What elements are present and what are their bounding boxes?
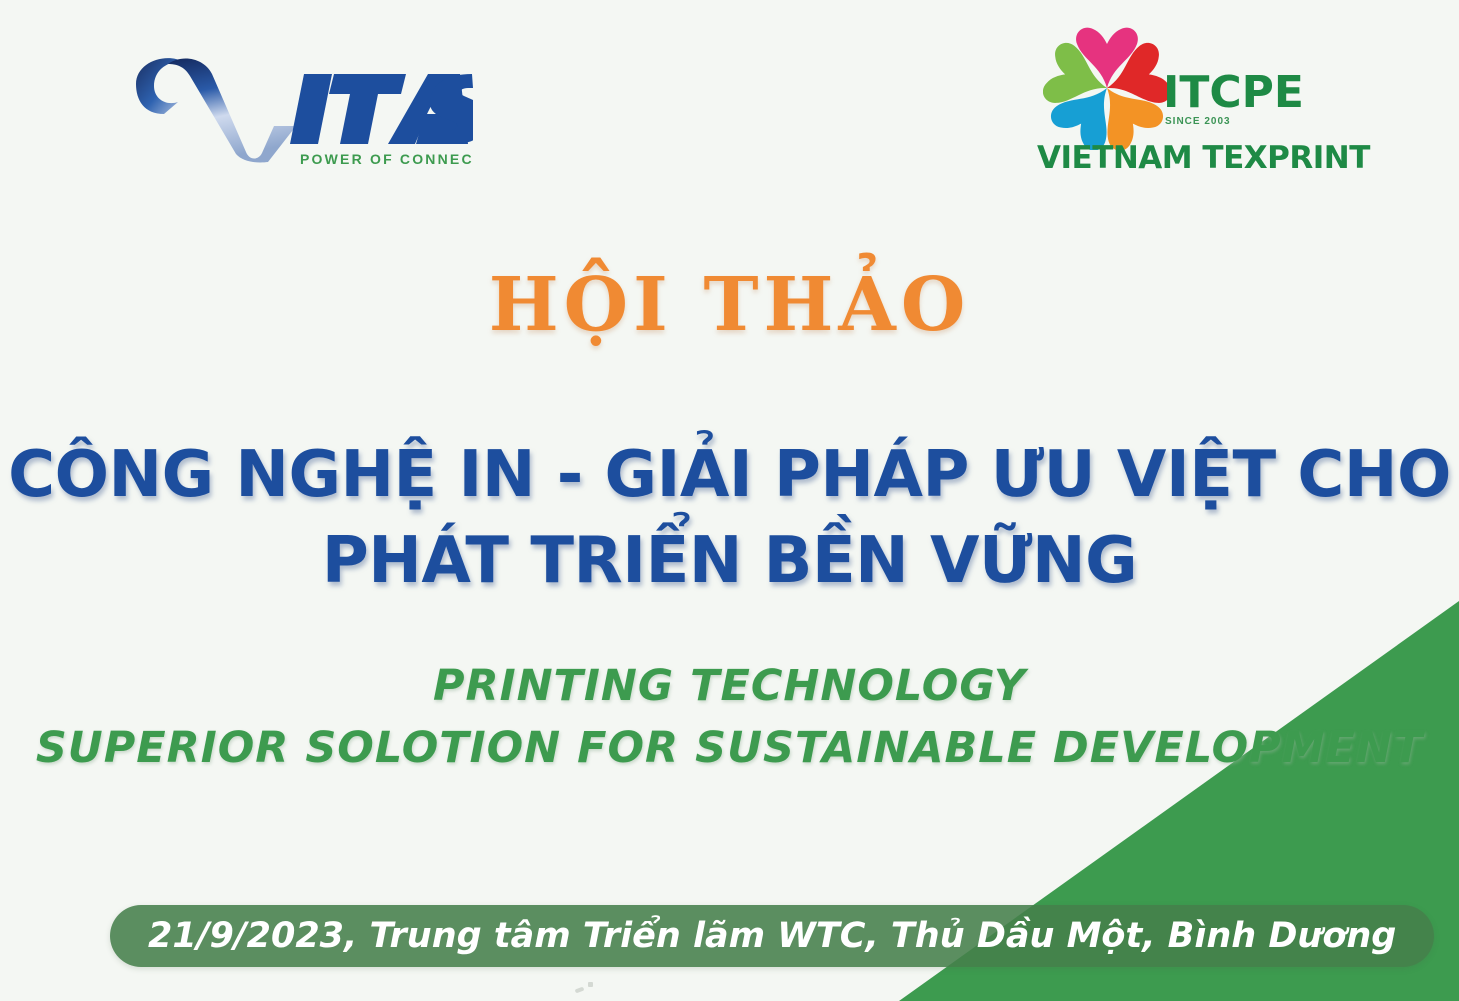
itcpe-logo: ITCPE SINCE 2003 VIETNAM TEXPRINT [1035, 22, 1305, 177]
vitas-logo: POWER OF CONNECTIONS [128, 44, 473, 169]
page-title: CÔNG NGHỆ IN - GIẢI PHÁP ƯU VIỆT CHO PHÁ… [0, 432, 1459, 605]
event-info-text: 21/9/2023, Trung tâm Triển lãm WTC, Thủ … [148, 916, 1396, 956]
subtitle-line-2: SUPERIOR SOLOTION FOR SUSTAINABLE DEVELO… [0, 717, 1459, 779]
subtitle-line-1: PRINTING TECHNOLOGY [0, 655, 1459, 717]
itcpe-wordmark-group: ITCPE SINCE 2003 [1163, 72, 1303, 127]
scan-artifact [575, 982, 597, 994]
itcpe-flower-icon [1043, 22, 1171, 150]
vitas-wordmark [290, 74, 473, 144]
itcpe-wordmark: ITCPE [1163, 72, 1303, 114]
seminar-poster: POWER OF CONNECTIONS [0, 0, 1459, 1001]
vitas-ribbon-v [168, 59, 296, 163]
title-line-2: PHÁT TRIỂN BỀN VỮNG [0, 518, 1459, 604]
english-subtitle: PRINTING TECHNOLOGY SUPERIOR SOLOTION FO… [0, 655, 1459, 780]
itcpe-subtitle: VIETNAM TEXPRINT [1037, 140, 1305, 176]
vitas-ribbon-curl [136, 58, 184, 114]
vitas-tagline: POWER OF CONNECTIONS [300, 151, 473, 167]
title-line-1: CÔNG NGHỆ IN - GIẢI PHÁP ƯU VIỆT CHO [0, 432, 1459, 518]
eyebrow-heading: HỘI THẢO [0, 262, 1459, 348]
event-info-banner: 21/9/2023, Trung tâm Triển lãm WTC, Thủ … [110, 905, 1434, 967]
